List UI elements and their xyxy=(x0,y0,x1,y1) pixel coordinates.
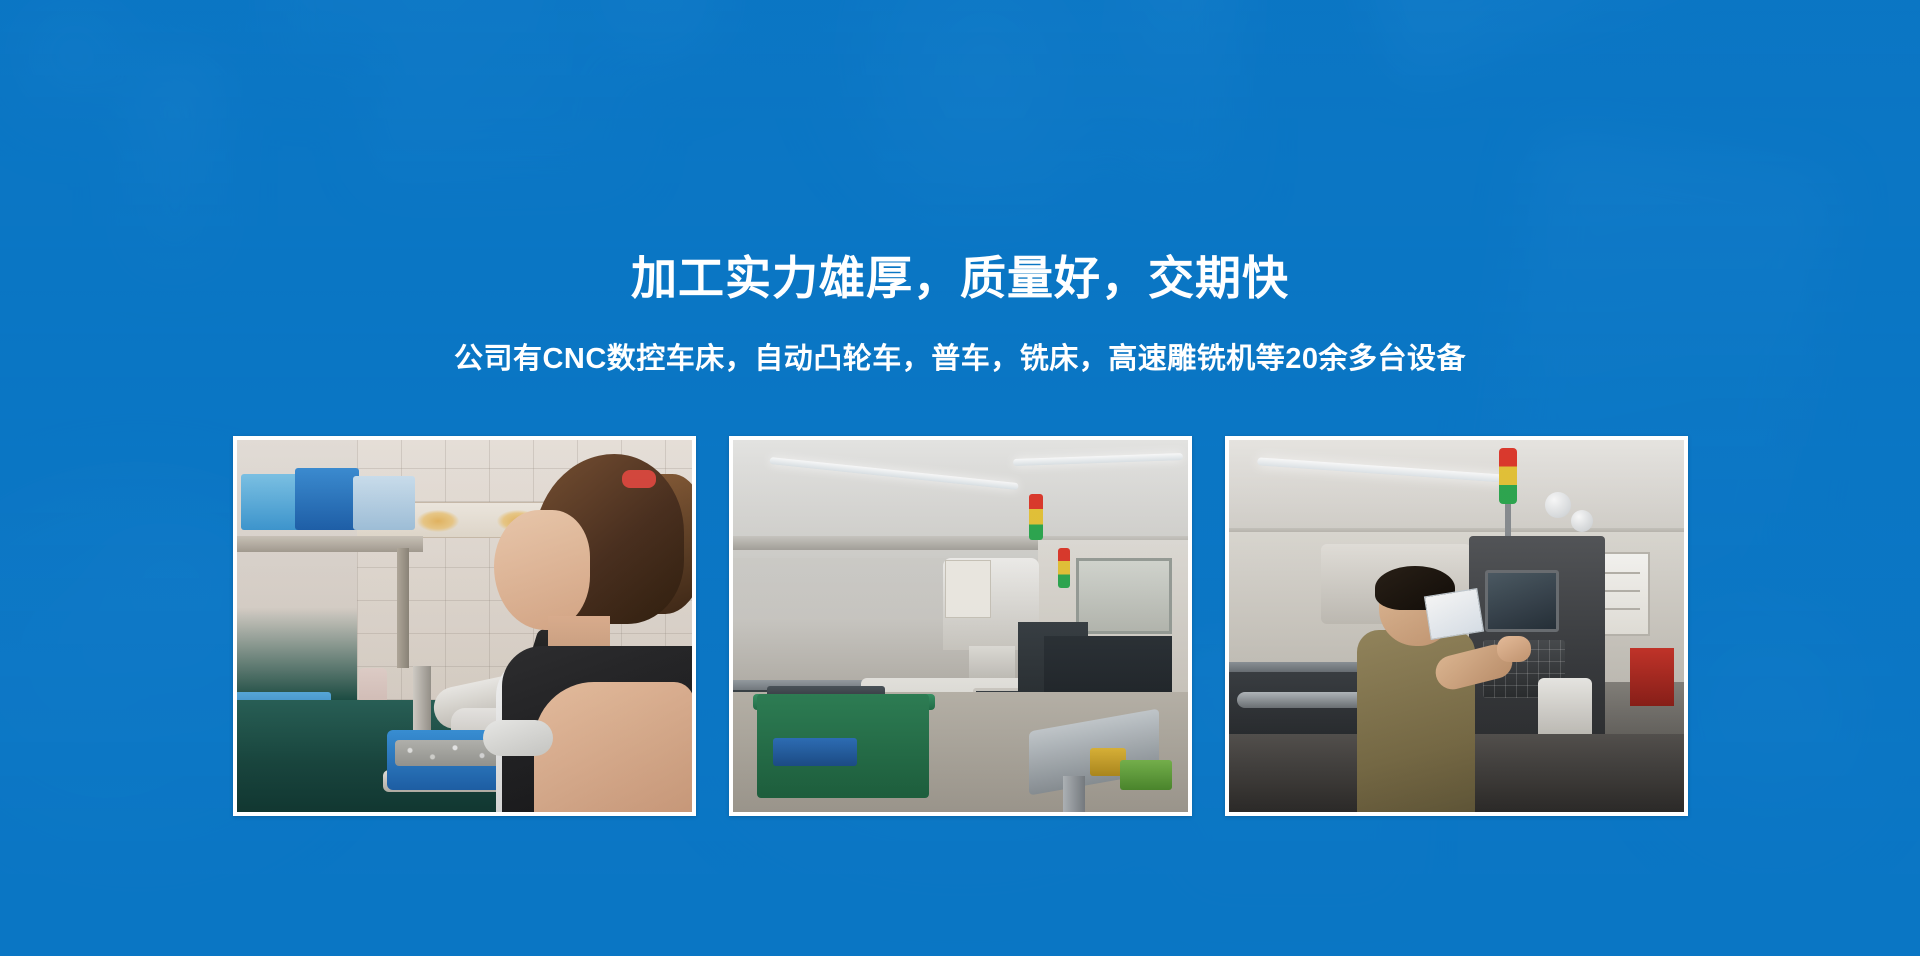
photo2-signal-tower xyxy=(1058,548,1070,588)
photo1-shelf-leg xyxy=(397,548,409,668)
photo2-green-bin xyxy=(1120,760,1172,790)
photo3-control-screen xyxy=(1485,570,1559,632)
photo2-cart-blue-box xyxy=(773,738,857,766)
photo3-safety-sign xyxy=(1630,648,1674,706)
photo3-operator-hand xyxy=(1497,636,1531,662)
gallery-photo-3[interactable] xyxy=(1225,436,1688,816)
photo1-wall-motif xyxy=(417,510,459,532)
photo3-work-order-sheet xyxy=(1424,588,1484,640)
banner-subheadline: 公司有CNC数控车床，自动凸轮车，普车，铣床，高速雕铣机等20余多台设备 xyxy=(0,345,1920,374)
photo1-hair-tie xyxy=(622,470,656,488)
photo1-inspector xyxy=(502,440,692,812)
photo3-work-lamp xyxy=(1571,510,1593,532)
photo3-work-lamp xyxy=(1545,492,1571,518)
photo-qc-microscope xyxy=(237,440,692,812)
banner-headline: 加工实力雄厚，质量好，交期快 xyxy=(0,255,1920,301)
photo1-shelf xyxy=(237,536,423,552)
photo-cnc-workshop xyxy=(733,440,1188,812)
photo1-parts-basket xyxy=(295,468,359,530)
photo3-ceiling xyxy=(1229,440,1684,536)
photo1-parts-basket xyxy=(353,476,415,530)
photo1-face xyxy=(494,510,590,630)
photo-gallery xyxy=(233,436,1688,816)
banner-content: 加工实力雄厚，质量好，交期快 公司有CNC数控车床，自动凸轮车，普车，铣床，高速… xyxy=(0,0,1920,956)
photo-operator-panel xyxy=(1229,440,1684,812)
photo2-conveyor-leg xyxy=(1063,776,1085,812)
photo3-signal-tower-pole xyxy=(1505,502,1511,536)
photo2-window xyxy=(1076,558,1172,634)
photo2-wall-notice xyxy=(945,560,991,618)
promo-banner: 加工实力雄厚，质量好，交期快 公司有CNC数控车床，自动凸轮车，普车，铣床，高速… xyxy=(0,0,1920,956)
photo2-signal-tower xyxy=(1029,494,1043,540)
photo1-arm xyxy=(534,682,692,812)
photo1-gloved-hand xyxy=(483,720,553,756)
photo3-signal-tower xyxy=(1499,448,1517,504)
gallery-photo-1[interactable] xyxy=(233,436,696,816)
gallery-photo-2[interactable] xyxy=(729,436,1192,816)
